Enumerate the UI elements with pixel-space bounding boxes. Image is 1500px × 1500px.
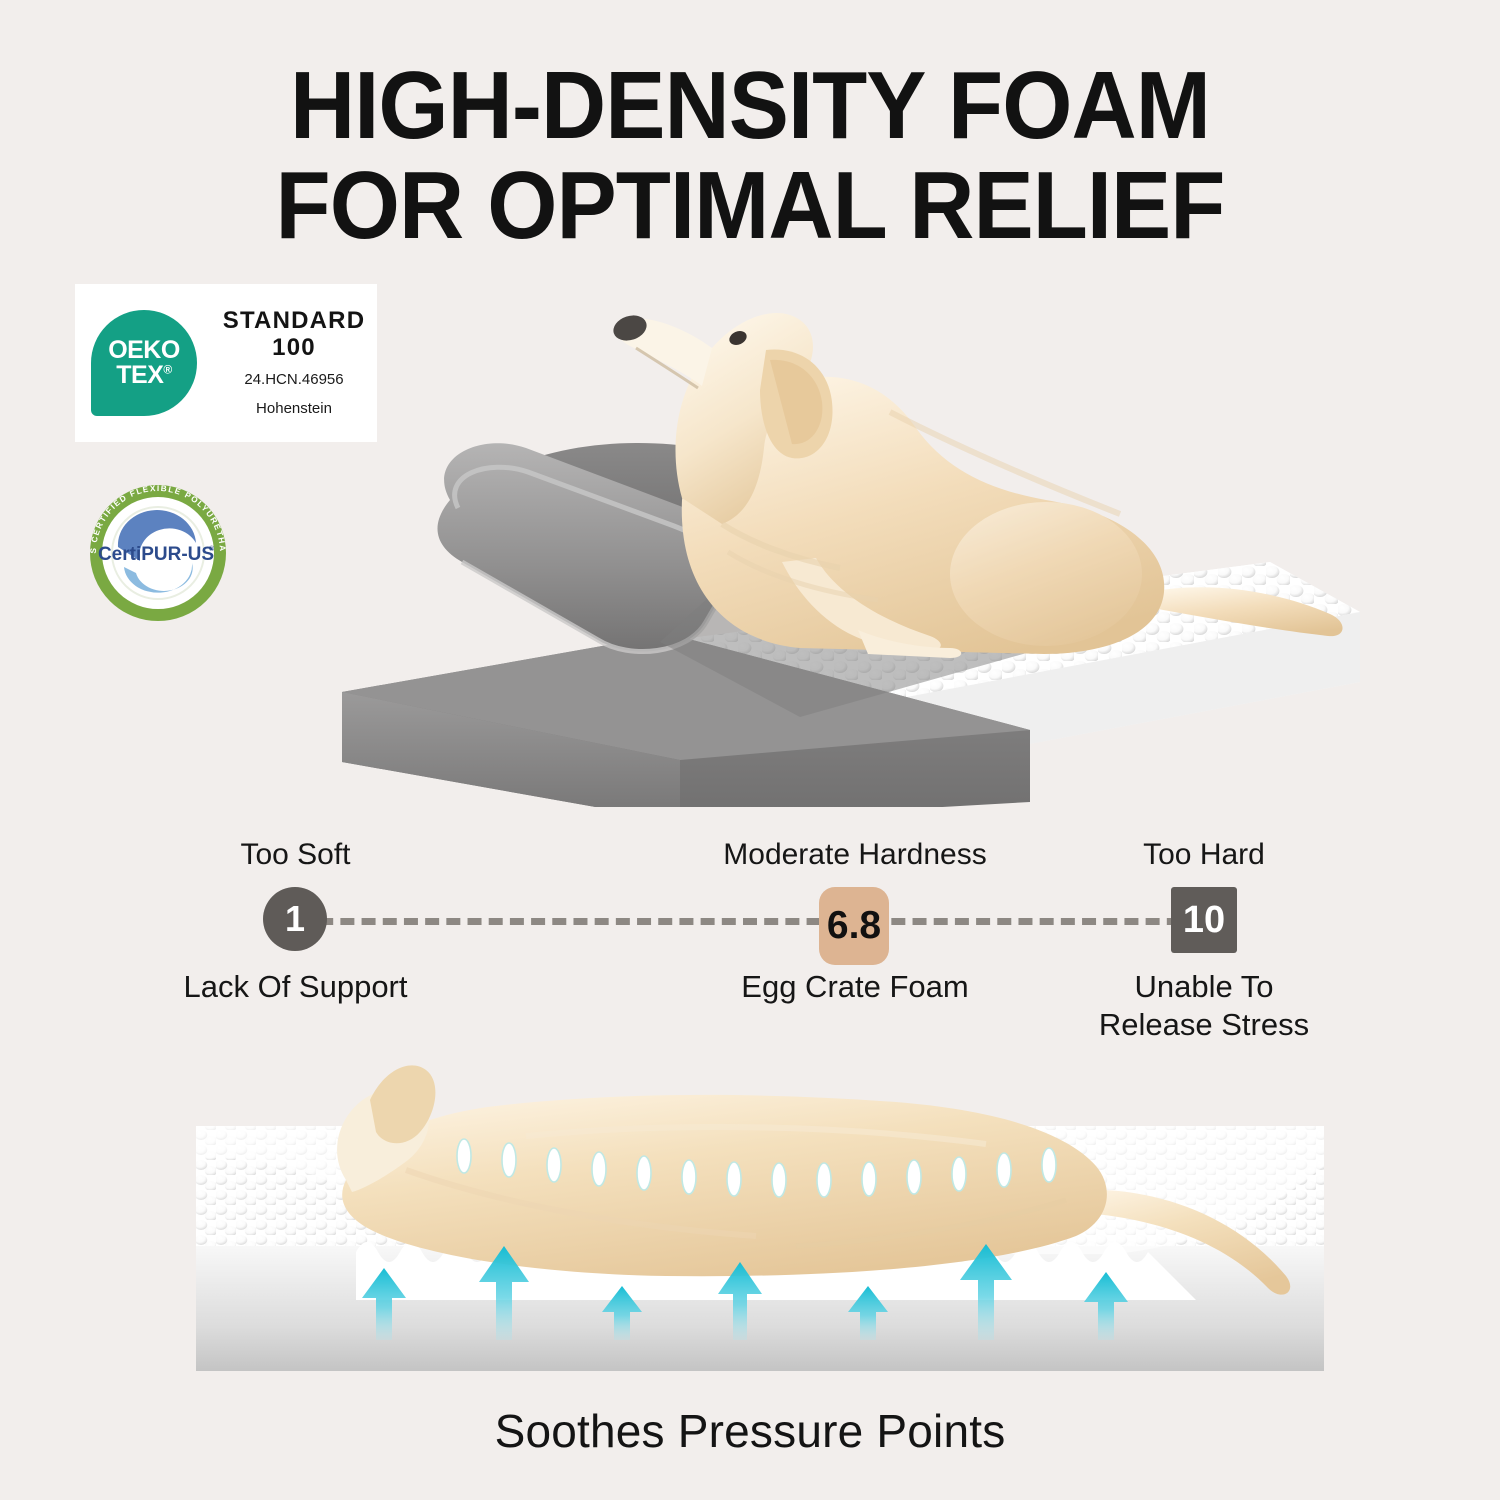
scale-label-too-soft: Too Soft: [178, 838, 413, 872]
bottom-caption: Soothes Pressure Points: [0, 1404, 1500, 1458]
hero-product-photo: [330, 262, 1360, 807]
page-title-line-2: FOR OPTIMAL RELIEF: [45, 156, 1455, 256]
certipur-us-seal-icon: CONTAINS CERTIFIED FLEXIBLE POLYURETHANE…: [78, 481, 238, 621]
page-title-line-1: HIGH-DENSITY FOAM: [45, 56, 1455, 156]
certipur-us-badge: CONTAINS CERTIFIED FLEXIBLE POLYURETHANE…: [78, 481, 238, 621]
page-title: HIGH-DENSITY FOAM FOR OPTIMAL RELIEF: [0, 56, 1500, 256]
dog-on-bed-illustration: [330, 262, 1360, 807]
scale-caption-lack-of-support: Lack Of Support: [178, 968, 413, 1006]
svg-text:®: ®: [209, 545, 215, 553]
scale-label-moderate-hardness: Moderate Hardness: [700, 838, 1010, 872]
oeko-tex-logo-line-1: OEKO: [108, 338, 180, 364]
dog-pressure-diagram: [196, 1040, 1324, 1385]
scale-caption-right-line-2: Release Stress: [1076, 1006, 1332, 1044]
scale-caption-egg-crate-foam: Egg Crate Foam: [700, 968, 1010, 1006]
scale-label-too-hard: Too Hard: [1076, 838, 1332, 872]
scale-marker-current[interactable]: 6.8: [819, 887, 889, 965]
oeko-tex-logo-icon: OEKO TEX®: [91, 310, 197, 416]
svg-text:CertiPUR-US: CertiPUR-US: [98, 544, 214, 565]
scale-marker-min[interactable]: 1: [263, 887, 327, 951]
scale-caption-right-line-1: Unable To: [1076, 968, 1332, 1006]
scale-marker-max[interactable]: 10: [1171, 887, 1237, 953]
oeko-tex-logo-line-2: TEX®: [116, 363, 171, 389]
pressure-relief-illustration: [196, 1040, 1324, 1385]
scale-track-line: [298, 918, 1202, 925]
hardness-scale: Too Soft Moderate Hardness Too Hard 1 6.…: [0, 838, 1500, 1048]
scale-caption-unable-to-release-stress: Unable To Release Stress: [1076, 968, 1332, 1044]
